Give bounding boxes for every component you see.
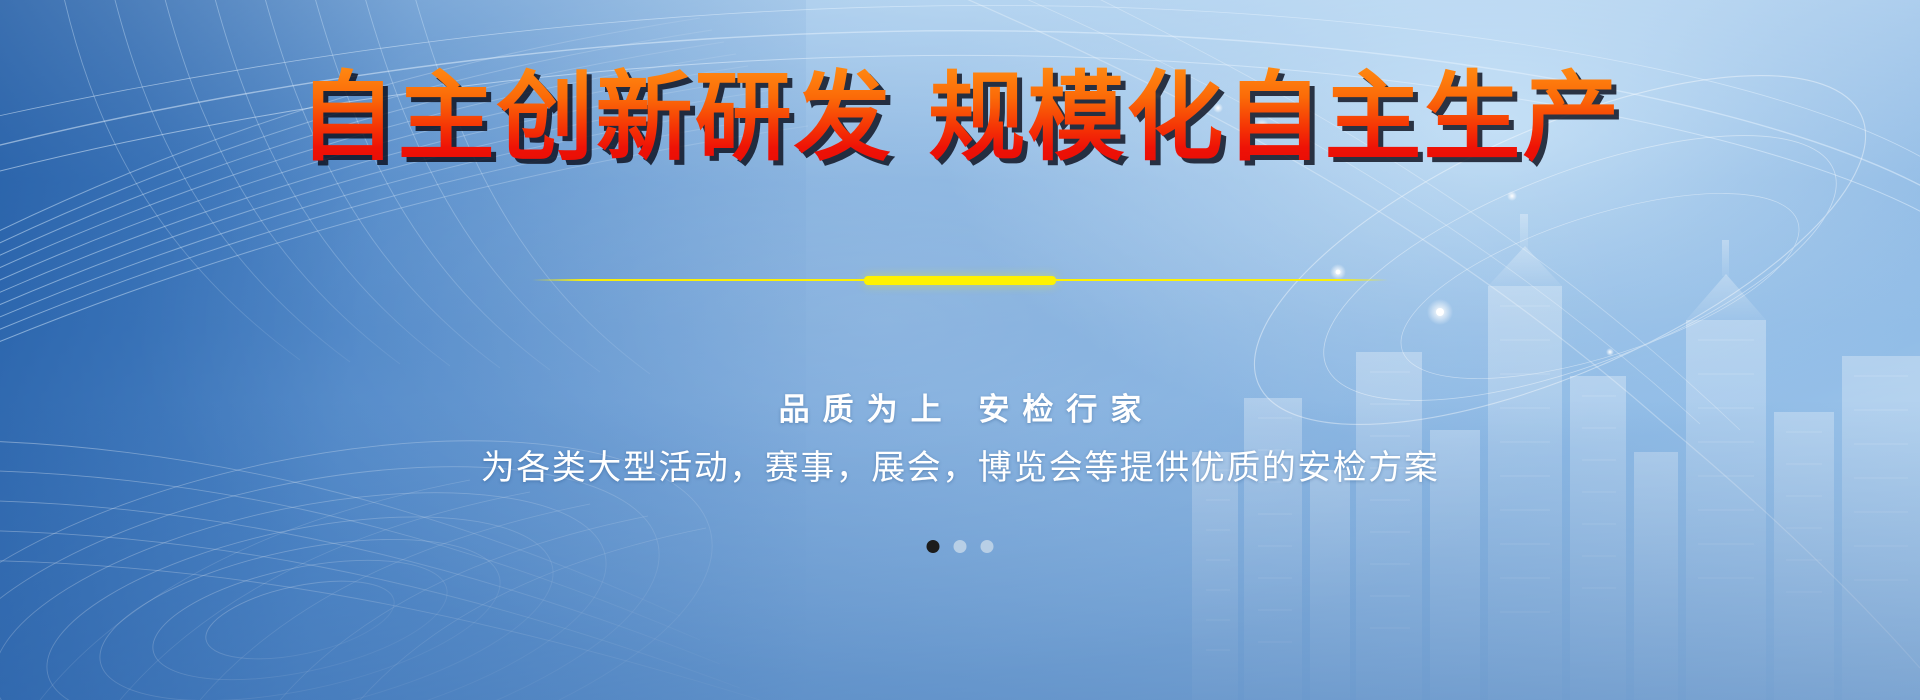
carousel-dot-2[interactable] bbox=[954, 540, 967, 553]
title-divider bbox=[532, 276, 1388, 284]
divider-accent-bar bbox=[864, 276, 1056, 285]
banner-subtitle-main: 品质为上 安检行家 bbox=[0, 384, 1920, 429]
carousel-dot-1[interactable] bbox=[927, 540, 940, 553]
carousel-dot-3[interactable] bbox=[981, 540, 994, 553]
banner-headline: 自主创新研发 规模化自主生产 bbox=[0, 66, 1920, 171]
carousel-indicators[interactable] bbox=[927, 540, 994, 553]
banner-content: 自主创新研发 规模化自主生产 品质为上 安检行家 为各类大型活动，赛事，展会，博… bbox=[0, 0, 1920, 700]
banner-subtitle-description: 为各类大型活动，赛事，展会，博览会等提供优质的安检方案 bbox=[0, 440, 1920, 489]
hero-banner: 自主创新研发 规模化自主生产 品质为上 安检行家 为各类大型活动，赛事，展会，博… bbox=[0, 0, 1920, 700]
